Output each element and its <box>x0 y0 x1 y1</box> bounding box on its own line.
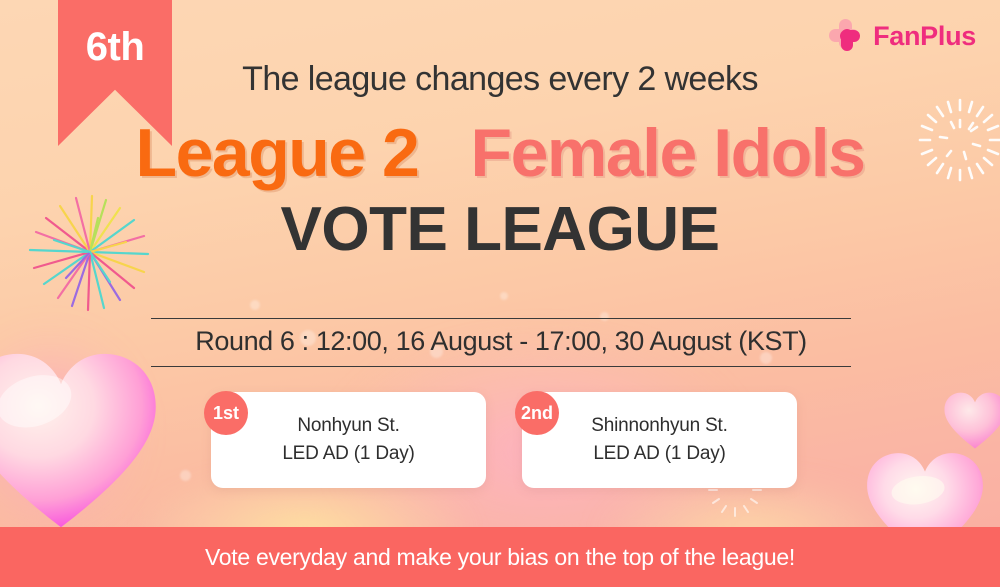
round-period-text: Round 6 : 12:00, 16 August - 17:00, 30 A… <box>151 328 851 355</box>
promo-banner: 6th FanPlus The league changes every 2 w… <box>0 0 1000 587</box>
prize-card[interactable]: Shinnonhyun St. LED AD (1 Day) <box>522 392 797 488</box>
prize-detail: LED AD (1 Day) <box>593 442 725 466</box>
main-title: League 2 Female Idols <box>0 118 1000 189</box>
bokeh-dot <box>250 300 260 310</box>
round-period: Round 6 : 12:00, 16 August - 17:00, 30 A… <box>151 318 851 367</box>
bokeh-dot <box>500 292 508 300</box>
plus-cross-icon <box>828 18 864 54</box>
brand-logo[interactable]: FanPlus <box>828 18 976 54</box>
prize-location: Shinnonhyun St. <box>591 414 727 438</box>
footer-text: Vote everyday and make your bias on the … <box>205 544 795 571</box>
brand-name: FanPlus <box>873 21 976 52</box>
prize-card[interactable]: Nonhyun St. LED AD (1 Day) <box>211 392 486 488</box>
footer-bar: Vote everyday and make your bias on the … <box>0 527 1000 587</box>
prize-card-holder: 2nd Shinnonhyun St. LED AD (1 Day) <box>514 392 797 488</box>
rank-badge-1st: 1st <box>204 391 248 435</box>
title-part-idols: Female Idols <box>471 115 865 191</box>
prize-card-holder: 1st Nonhyun St. LED AD (1 Day) <box>203 392 486 488</box>
ribbon-label: 6th <box>86 25 145 70</box>
title-part-league: League 2 <box>136 115 419 191</box>
prize-location: Nonhyun St. <box>297 414 399 438</box>
prize-detail: LED AD (1 Day) <box>282 442 414 466</box>
vote-league-title: VOTE LEAGUE <box>0 197 1000 262</box>
prize-card-list: 1st Nonhyun St. LED AD (1 Day) 2nd Shinn… <box>0 392 1000 488</box>
rank-badge-2nd: 2nd <box>515 391 559 435</box>
